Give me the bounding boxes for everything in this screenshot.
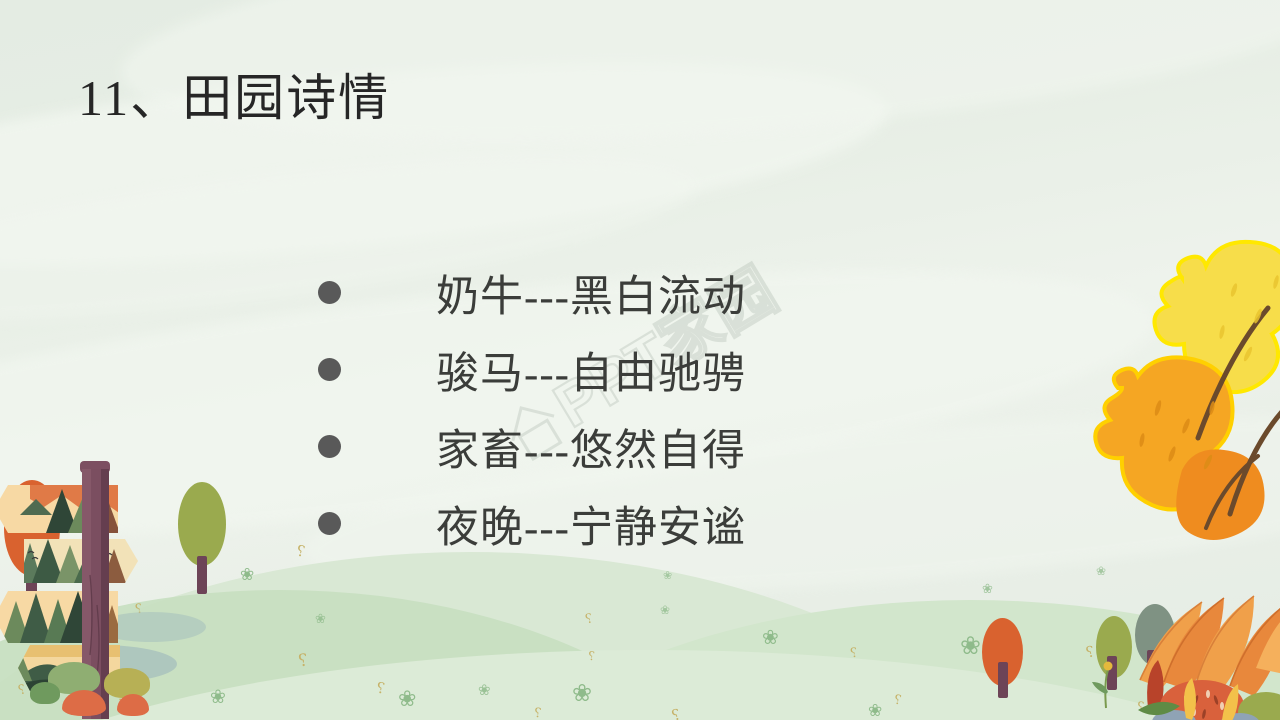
list-item: 家畜---悠然自得 <box>318 408 878 485</box>
grass-tuft: ⸮ <box>849 646 857 660</box>
clover-icon: ❀ <box>868 702 882 719</box>
list-item: 夜晚---宁静安谧 <box>318 485 878 562</box>
sign-panel-2 <box>18 537 144 585</box>
clover-icon: ❀ <box>315 612 326 625</box>
autumn-leaf-cluster <box>1130 560 1280 720</box>
small-stem-flower <box>1086 650 1126 710</box>
page-title: 11、田园诗情 <box>78 58 390 130</box>
clover-icon: ❀ <box>960 634 981 659</box>
clover-icon: ❀ <box>762 628 779 648</box>
clover-icon: ❀ <box>478 684 491 699</box>
list-item: 骏马---自由驰骋 <box>318 331 878 408</box>
clover-icon: ❀ <box>210 688 226 707</box>
list-item-label: 奶牛---黑白流动 <box>436 262 746 324</box>
grass-tuft: ⸮ <box>587 650 595 663</box>
clover-icon: ❀ <box>982 582 993 595</box>
list-item-label: 夜晚---宁静安谧 <box>436 493 746 555</box>
bush-shape <box>104 668 150 698</box>
bullet-dot-icon <box>318 281 341 304</box>
bullet-dot-icon <box>318 358 341 381</box>
tree-trunk <box>998 662 1008 698</box>
clover-icon: ❀ <box>1096 565 1106 577</box>
bullet-dot-icon <box>318 512 341 535</box>
list-item-label: 骏马---自由驰骋 <box>436 339 746 401</box>
bullet-list: 奶牛---黑白流动 骏马---自由驰骋 家畜---悠然自得 夜晚---宁静安谧 <box>318 254 878 562</box>
slide-canvas: ❀ ❀ ❀ ❀ ❀ ❀ ❀ ❀ ❀ ❀ ❀ ❀ ❀ ⸮ ⸮ ⸮ ⸮ ⸮ ⸮ ⸮ … <box>0 0 1280 720</box>
tree-trunk <box>197 556 207 594</box>
autumn-foliage-right <box>1062 212 1280 532</box>
clover-icon: ❀ <box>398 688 416 710</box>
list-item-label: 家畜---悠然自得 <box>436 416 746 478</box>
list-item: 奶牛---黑白流动 <box>318 254 878 331</box>
clover-icon: ❀ <box>572 682 592 706</box>
clover-icon: ❀ <box>663 571 672 582</box>
clover-icon: ❀ <box>240 566 254 583</box>
grass-tuft: ⸮ <box>297 652 307 670</box>
clover-icon: ❀ <box>660 604 670 616</box>
bullet-dot-icon <box>318 435 341 458</box>
bush-shape <box>30 682 60 704</box>
